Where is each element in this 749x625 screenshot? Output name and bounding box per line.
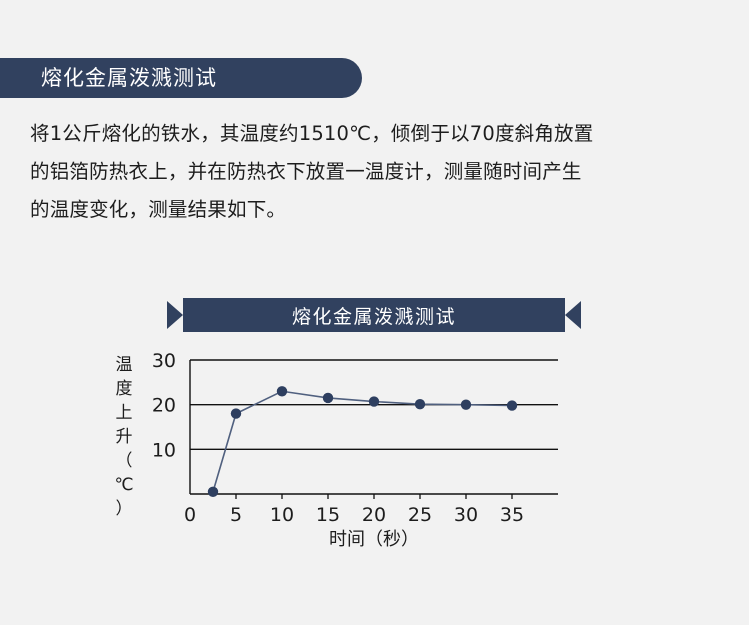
y-axis-title-char: 上	[116, 403, 133, 423]
x-axis-tick-labels: 05101520253035	[184, 504, 524, 526]
line-chart-svg: 05101520253035 102030 温度上升（℃） 时间（秒）	[0, 340, 749, 575]
x-tick-label: 35	[500, 504, 524, 526]
x-tick-label: 5	[230, 504, 242, 526]
triangle-left-icon	[565, 301, 581, 329]
y-axis-title-char: ）	[116, 499, 133, 519]
x-axis-tick-marks	[236, 494, 512, 499]
x-tick-label: 10	[270, 504, 294, 526]
data-point-marker	[208, 487, 218, 497]
x-tick-label: 25	[408, 504, 432, 526]
plot-area: 05101520253035 102030 温度上升（℃） 时间（秒）	[0, 340, 749, 575]
section-header-title: 熔化金属泼溅测试	[41, 68, 217, 89]
x-axis-title: 时间（秒）	[329, 529, 419, 550]
y-axis-tick-labels: 102030	[152, 350, 176, 461]
x-tick-label: 20	[362, 504, 386, 526]
data-point-marker	[461, 399, 471, 409]
x-tick-label: 30	[454, 504, 478, 526]
y-axis-title: 温度上升（℃）	[114, 355, 133, 519]
y-axis-title-char: 温	[116, 355, 133, 375]
y-axis-title-char: ℃	[114, 475, 133, 495]
chart-title-bar-body: 熔化金属泼溅测试	[183, 298, 565, 332]
data-point-marker	[415, 399, 425, 409]
x-tick-label: 15	[316, 504, 340, 526]
intro-paragraph: 将1公斤熔化的铁水，其温度约1510℃，倾倒于以70度斜角放置 的铝箔防热衣上，…	[30, 115, 722, 229]
section-header-banner: 熔化金属泼溅测试	[0, 58, 362, 98]
y-axis-title-char: 升	[116, 427, 133, 447]
chart-block: 熔化金属泼溅测试 05101520253035 102030 温度上升（℃） 时…	[0, 285, 749, 575]
triangle-right-icon	[167, 301, 183, 329]
data-point-marker	[507, 400, 517, 410]
y-tick-label: 10	[152, 439, 176, 461]
chart-title-bar: 熔化金属泼溅测试	[167, 298, 581, 332]
y-axis-title-char: 度	[116, 379, 133, 399]
y-tick-label: 30	[152, 350, 176, 372]
data-point-marker	[323, 393, 333, 403]
chart-gridlines	[190, 360, 558, 494]
x-tick-label: 0	[184, 504, 196, 526]
intro-line-3: 的温度变化，测量结果如下。	[30, 191, 722, 229]
intro-line-1: 将1公斤熔化的铁水，其温度约1510℃，倾倒于以70度斜角放置	[30, 115, 722, 153]
temperature-series	[208, 386, 517, 497]
data-point-marker	[231, 408, 241, 418]
chart-title: 熔化金属泼溅测试	[292, 302, 456, 329]
data-point-marker	[277, 386, 287, 396]
intro-line-2: 的铝箔防热衣上，并在防热衣下放置一温度计，测量随时间产生	[30, 153, 722, 191]
y-axis-title-char: （	[116, 451, 133, 471]
chart-axis-frame	[190, 360, 558, 494]
y-tick-label: 20	[152, 395, 176, 417]
data-point-marker	[369, 396, 379, 406]
